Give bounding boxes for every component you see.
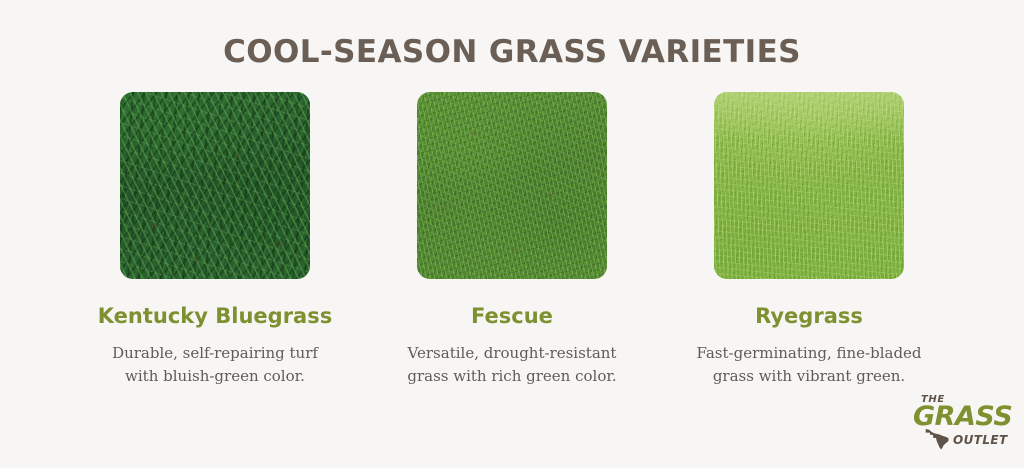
grass-blade-texture bbox=[714, 92, 904, 279]
fescue-photo bbox=[417, 92, 607, 279]
kentucky-bluegrass-photo bbox=[120, 92, 310, 279]
grass-card-title: Kentucky Bluegrass bbox=[98, 306, 332, 327]
grass-card-ryegrass: Ryegrass Fast-germinating, fine-bladed g… bbox=[714, 92, 904, 388]
grass-variety-cards: Kentucky Bluegrass Durable, self-repairi… bbox=[0, 92, 1024, 388]
texas-state-icon bbox=[924, 428, 950, 450]
page-title: COOL-SEASON GRASS VARIETIES bbox=[0, 34, 1024, 70]
description-line-1: Fast-germinating, fine-bladed bbox=[696, 342, 921, 365]
logo-grass-text: GRASS bbox=[913, 403, 1012, 430]
brand-logo: THE GRASS OUTLET bbox=[907, 392, 1005, 452]
description-line-2: grass with rich green color. bbox=[407, 365, 616, 388]
logo-outlet-text: OUTLET bbox=[953, 433, 1008, 447]
grass-card-description: Versatile, drought-resistant grass with … bbox=[407, 342, 616, 388]
infographic-canvas: COOL-SEASON GRASS VARIETIES Kentucky Blu… bbox=[0, 0, 1024, 468]
grass-blade-texture bbox=[120, 92, 310, 279]
grass-card-title: Ryegrass bbox=[755, 306, 863, 327]
description-line-1: Versatile, drought-resistant bbox=[407, 342, 616, 365]
description-line-2: with bluish-green color. bbox=[112, 365, 318, 388]
description-line-1: Durable, self-repairing turf bbox=[112, 342, 318, 365]
ryegrass-photo bbox=[714, 92, 904, 279]
description-line-2: grass with vibrant green. bbox=[696, 365, 921, 388]
grass-card-description: Durable, self-repairing turf with bluish… bbox=[112, 342, 318, 388]
grass-blade-texture bbox=[417, 92, 607, 279]
grass-card-title: Fescue bbox=[471, 306, 553, 327]
grass-card-kentucky-bluegrass: Kentucky Bluegrass Durable, self-repairi… bbox=[120, 92, 310, 388]
grass-card-fescue: Fescue Versatile, drought-resistant gras… bbox=[417, 92, 607, 388]
grass-card-description: Fast-germinating, fine-bladed grass with… bbox=[696, 342, 921, 388]
